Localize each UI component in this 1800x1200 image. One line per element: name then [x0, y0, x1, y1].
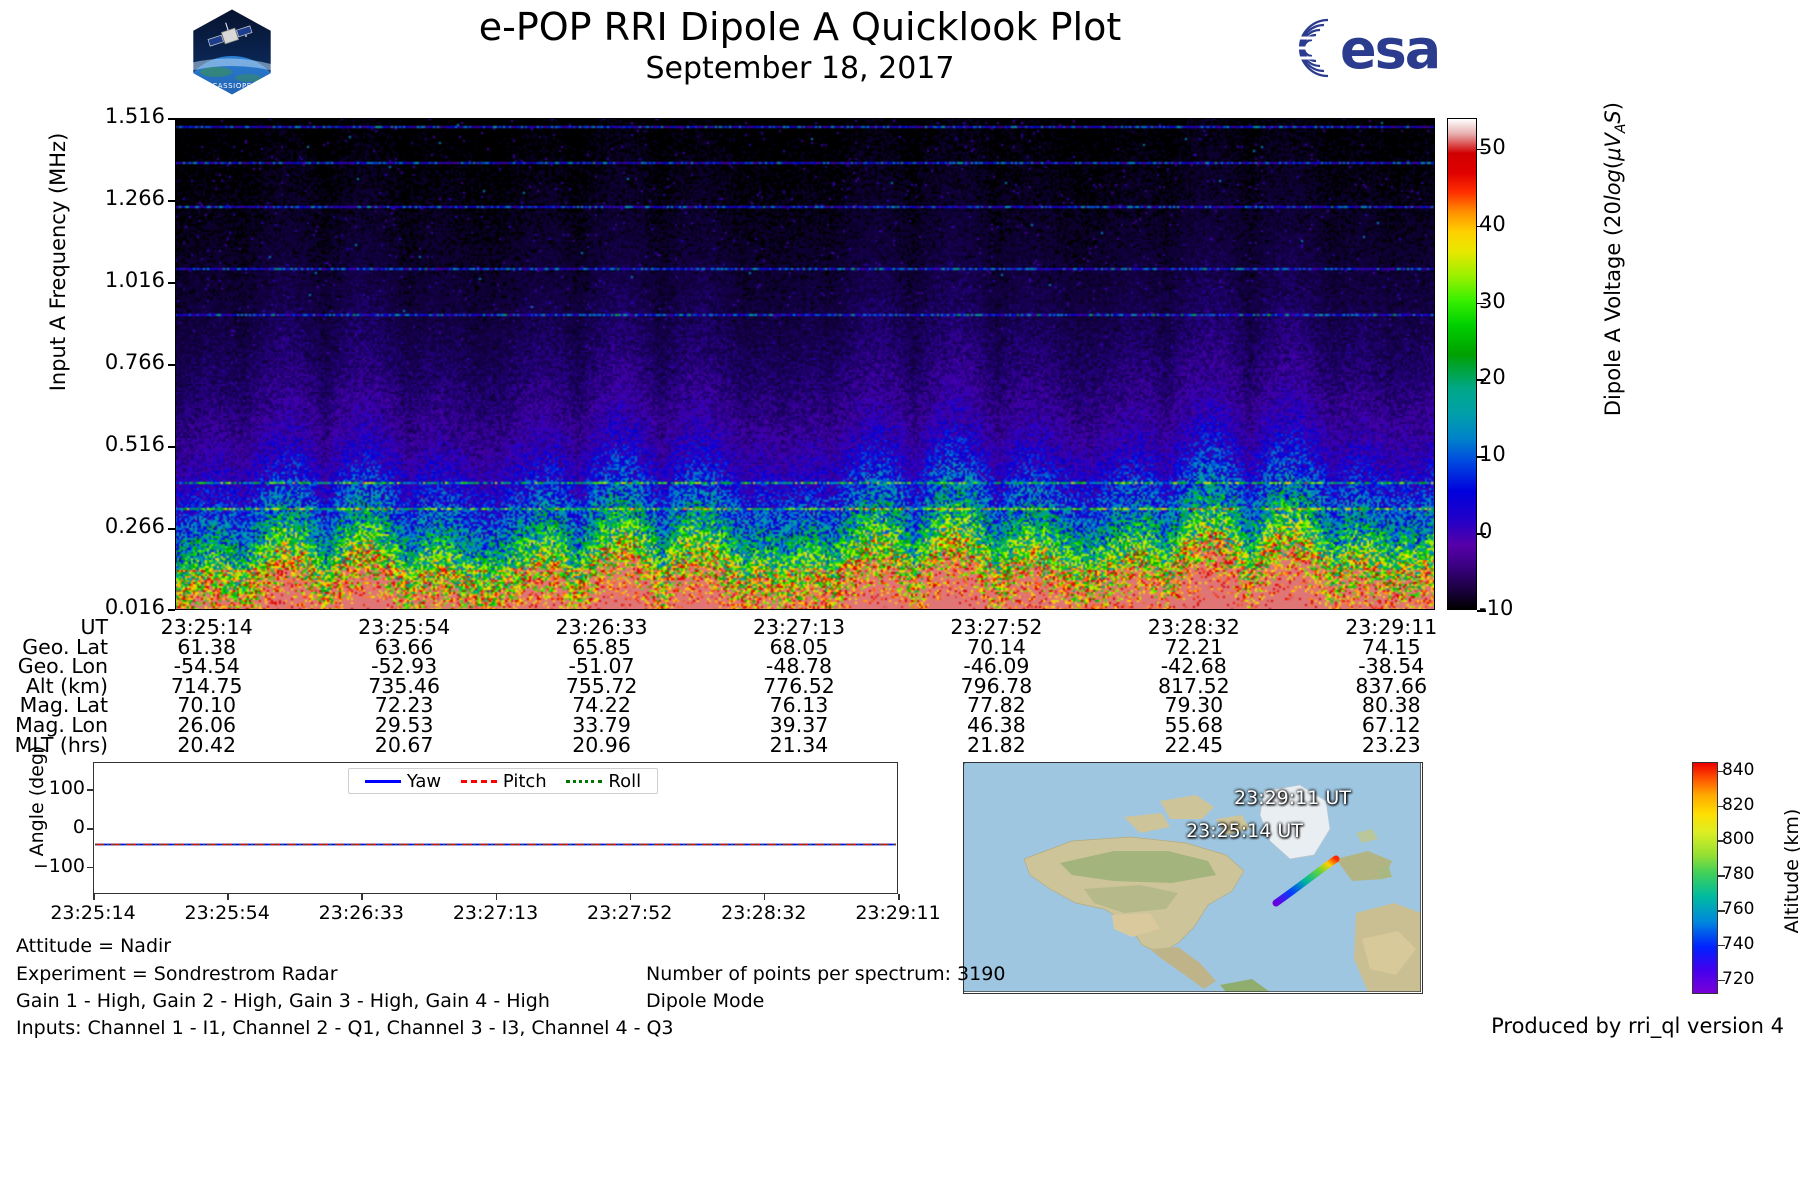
altitude-colorbar-tick-label: 840: [1722, 760, 1754, 780]
voltage-colorbar-tick-mark: [1477, 379, 1486, 381]
spectrogram-canvas: [175, 118, 1435, 610]
spectrogram-y-tick-label: 0.516: [15, 432, 165, 456]
altitude-colorbar-tick-label: 780: [1722, 864, 1754, 884]
legend-label-roll: Roll: [608, 771, 641, 792]
voltage-colorbar-tick-label: -10: [1479, 596, 1513, 620]
altitude-colorbar-tick-mark: [1718, 910, 1725, 911]
attitude-x-tick-label: 23:25:14: [33, 902, 153, 924]
title-subtitle: September 18, 2017: [300, 50, 1300, 88]
voltage-colorbar-tick-label: 30: [1479, 289, 1506, 313]
spectrogram-y-tick-mark: [168, 364, 175, 366]
voltage-colorbar-tick-label: 0: [1479, 519, 1492, 543]
attitude-x-tick-mark: [227, 894, 229, 900]
voltage-colorbar-tick-label: 20: [1479, 365, 1506, 389]
footer-experiment: Experiment = Sondrestrom Radar: [16, 963, 338, 985]
attitude-x-tick-label: 23:28:32: [704, 902, 824, 924]
attitude-x-tick-label: 23:27:52: [570, 902, 690, 924]
legend-item-yaw: Yaw: [365, 771, 441, 792]
altitude-colorbar-tick-label: 800: [1722, 829, 1754, 849]
svg-text:esa: esa: [1340, 18, 1439, 81]
table-cell: 20.42: [108, 736, 305, 756]
esa-logo: esa: [1278, 12, 1478, 84]
attitude-x-tick-mark: [93, 894, 95, 900]
spectrogram-y-tick-mark: [168, 118, 175, 120]
attitude-traces: [95, 831, 896, 834]
legend-label-yaw: Yaw: [407, 771, 441, 792]
attitude-x-tick-label: 23:29:11: [838, 902, 958, 924]
attitude-x-tick-label: 23:25:54: [167, 902, 287, 924]
attitude-x-tick-mark: [361, 894, 363, 900]
title-main: e-POP RRI Dipole A Quicklook Plot: [300, 4, 1300, 50]
spectrogram-plot: [175, 118, 1435, 610]
attitude-x-tick-mark: [496, 894, 498, 900]
altitude-colorbar-tick-label: 820: [1722, 795, 1754, 815]
altitude-colorbar-label: Altitude (km): [1781, 751, 1800, 991]
spectrogram-y-tick-mark: [168, 446, 175, 448]
ephemeris-info-table: UT23:25:1423:25:5423:26:3323:27:1323:27:…: [0, 618, 1490, 755]
voltage-colorbar-tick-mark: [1477, 226, 1486, 228]
map-start-time-label: 23:25:14 UT: [1186, 820, 1303, 842]
voltage-colorbar-tick-label: 10: [1479, 442, 1506, 466]
spectrogram-y-tick-label: 1.266: [15, 186, 165, 210]
attitude-y-tick-label: 100: [5, 777, 85, 799]
voltage-colorbar-tick-mark: [1477, 149, 1486, 151]
attitude-x-tick-label: 23:26:33: [301, 902, 421, 924]
ground-track-map: [963, 762, 1423, 994]
spectrogram-y-tick-label: 0.766: [15, 350, 165, 374]
spectrogram-y-tick-label: 0.266: [15, 514, 165, 538]
spectrogram-y-tick-label: 1.516: [15, 104, 165, 128]
voltage-colorbar: [1447, 118, 1477, 610]
altitude-colorbar-tick-label: 720: [1722, 969, 1754, 989]
footer-gain: Gain 1 - High, Gain 2 - High, Gain 3 - H…: [16, 990, 550, 1012]
table-row: MLT (hrs)20.4220.6720.9621.3421.8222.452…: [0, 736, 1490, 756]
footer-produced-by: Produced by rri_ql version 4: [1491, 1014, 1784, 1038]
attitude-y-tick-label: −100: [5, 855, 85, 877]
voltage-colorbar-tick-mark: [1477, 610, 1486, 612]
spectrogram-y-tick-mark: [168, 282, 175, 284]
attitude-y-tick-mark: [87, 867, 93, 869]
table-cell: 21.82: [898, 736, 1095, 756]
attitude-x-tick-mark: [764, 894, 766, 900]
voltage-colorbar-tick-mark: [1477, 533, 1486, 535]
attitude-y-tick-mark: [87, 828, 93, 830]
spectrogram-y-tick-mark: [168, 609, 175, 611]
attitude-x-tick-label: 23:27:13: [436, 902, 556, 924]
footer-dipole-mode: Dipole Mode: [646, 990, 764, 1012]
attitude-y-tick-mark: [87, 789, 93, 791]
voltage-colorbar-tick-mark: [1477, 303, 1486, 305]
altitude-colorbar-tick-mark: [1718, 806, 1725, 807]
spectrogram-y-tick-label: 1.016: [15, 268, 165, 292]
legend-label-pitch: Pitch: [503, 771, 547, 792]
altitude-colorbar-tick-label: 740: [1722, 934, 1754, 954]
altitude-colorbar-tick-mark: [1718, 875, 1725, 876]
table-cell: 21.34: [700, 736, 897, 756]
cassiope-mission-patch-logo: CASSIOPE: [186, 6, 278, 98]
attitude-legend: Yaw Pitch Roll: [348, 768, 658, 794]
altitude-colorbar-tick-mark: [1718, 980, 1725, 981]
legend-item-pitch: Pitch: [461, 771, 547, 792]
attitude-x-tick-mark: [898, 894, 900, 900]
altitude-colorbar-tick-label: 760: [1722, 899, 1754, 919]
table-cell: 23.23: [1293, 736, 1490, 756]
altitude-colorbar-tick-mark: [1718, 771, 1725, 772]
page-title: e-POP RRI Dipole A Quicklook Plot Septem…: [300, 4, 1300, 88]
attitude-y-tick-label: 0: [5, 816, 85, 838]
altitude-colorbar: [1692, 762, 1718, 994]
spectrogram-y-tick-mark: [168, 200, 175, 202]
legend-swatch-yaw: [365, 780, 401, 783]
table-cell: 20.67: [305, 736, 502, 756]
attitude-x-tick-mark: [630, 894, 632, 900]
voltage-colorbar-tick-label: 40: [1479, 212, 1506, 236]
table-cell: 20.96: [503, 736, 700, 756]
legend-swatch-pitch: [461, 780, 497, 783]
footer-attitude: Attitude = Nadir: [16, 935, 171, 957]
legend-swatch-roll: [566, 780, 602, 783]
voltage-colorbar-tick-mark: [1477, 456, 1486, 458]
footer-inputs: Inputs: Channel 1 - I1, Channel 2 - Q1, …: [16, 1017, 674, 1039]
legend-item-roll: Roll: [566, 771, 641, 792]
table-cell: 22.45: [1095, 736, 1292, 756]
altitude-colorbar-tick-mark: [1718, 840, 1725, 841]
altitude-colorbar-tick-mark: [1718, 945, 1725, 946]
voltage-colorbar-label: Dipole A Voltage (20log(μVAS): [1601, 29, 1629, 489]
spectrogram-y-axis-label: Input A Frequency (MHz): [46, 92, 70, 432]
footer-points-per-spectrum: Number of points per spectrum: 3190: [646, 963, 1005, 985]
spectrogram-y-tick-mark: [168, 528, 175, 530]
map-end-time-label: 23:29:11 UT: [1234, 787, 1351, 809]
voltage-colorbar-tick-label: 50: [1479, 135, 1506, 159]
table-row-label: MLT (hrs): [0, 736, 108, 756]
